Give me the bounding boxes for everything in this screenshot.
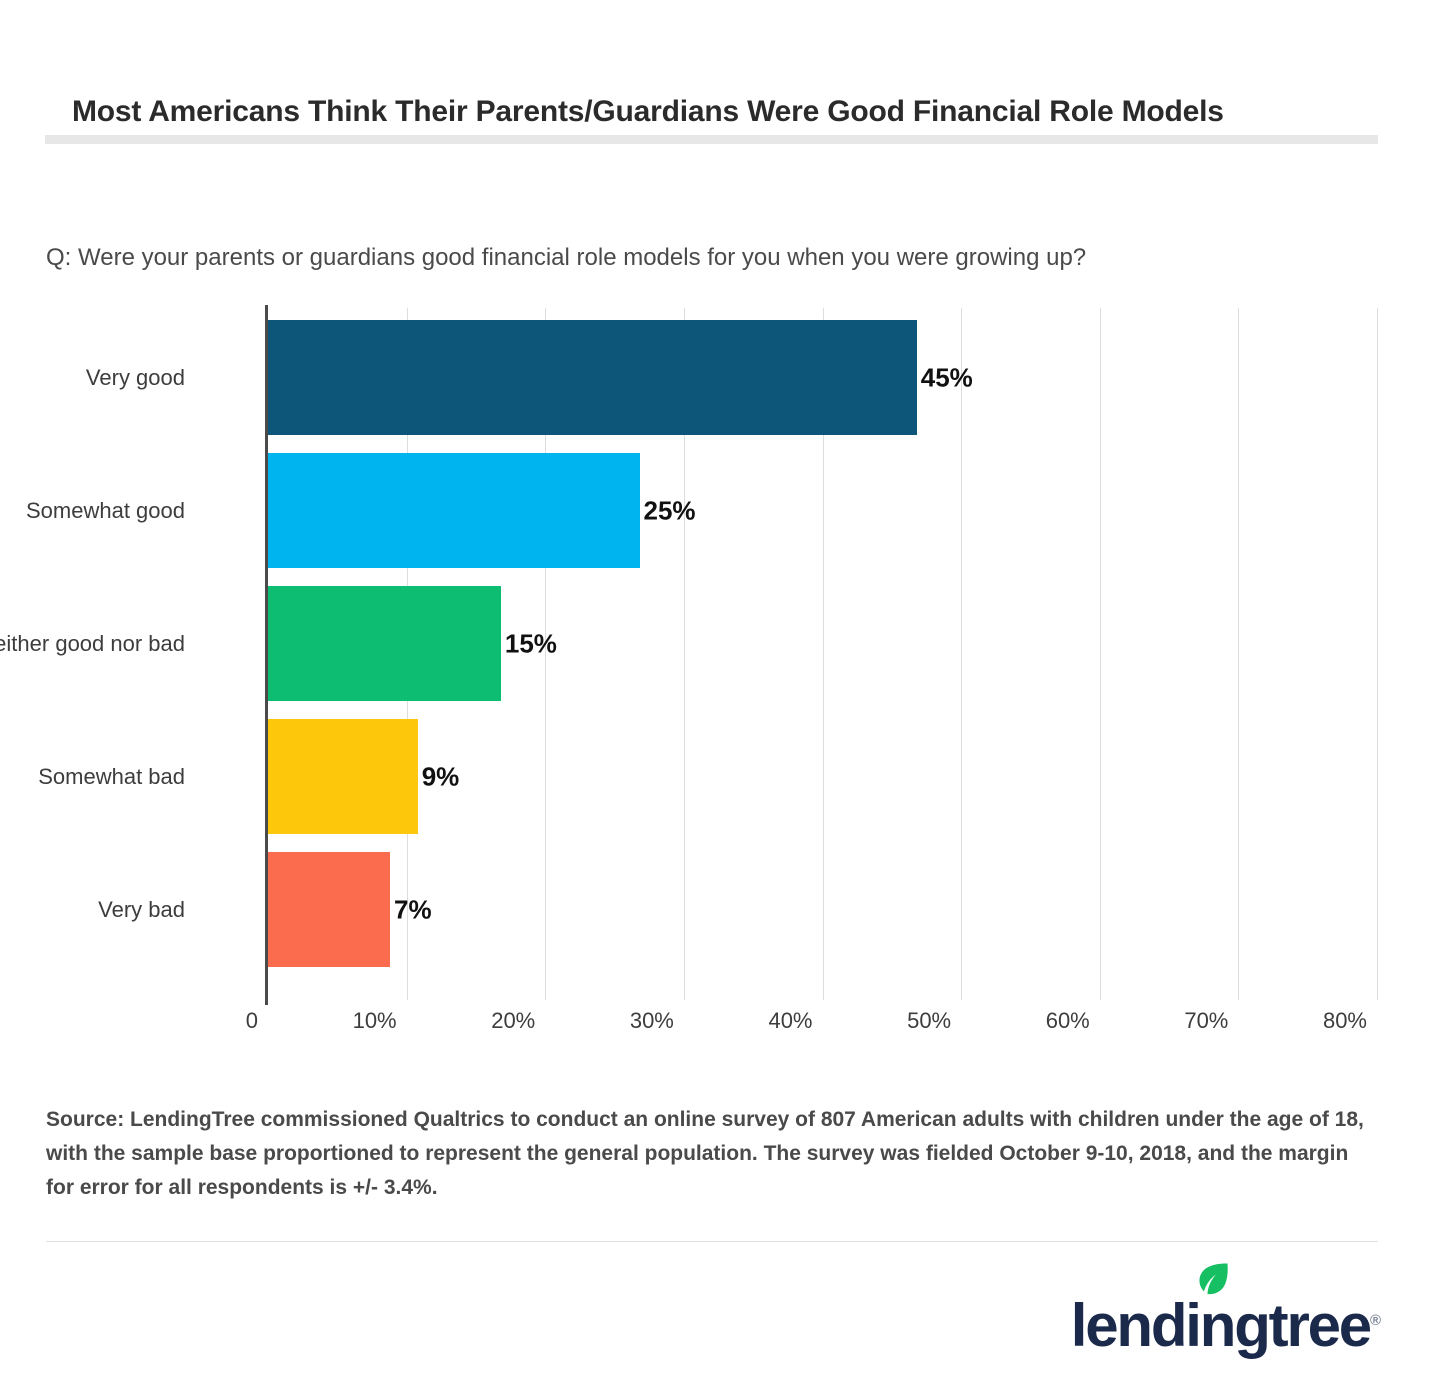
- bar: [268, 453, 640, 568]
- infographic-page: Most Americans Think Their Parents/Guard…: [0, 0, 1443, 1390]
- category-label: Neither good nor bad: [0, 631, 185, 657]
- x-axis-tick-label: 70%: [1118, 1008, 1228, 1034]
- bar-value-label: 9%: [422, 761, 460, 792]
- x-axis-tick-label: 50%: [841, 1008, 951, 1034]
- bar: [268, 586, 501, 701]
- source-note: Source: LendingTree commissioned Qualtri…: [46, 1103, 1366, 1205]
- x-axis-tick-label: 30%: [564, 1008, 674, 1034]
- bar-value-label: 15%: [505, 628, 557, 659]
- footer-divider: [46, 1241, 1378, 1242]
- x-axis-tick-label: 0: [148, 1008, 258, 1034]
- page-title: Most Americans Think Their Parents/Guard…: [72, 94, 1392, 130]
- category-label: Somewhat bad: [0, 764, 185, 790]
- logo-text: lendingtree: [1071, 1292, 1370, 1359]
- registered-mark: ®: [1370, 1312, 1381, 1329]
- bar-value-label: 25%: [644, 495, 696, 526]
- category-label: Very good: [0, 365, 185, 391]
- bar-row: 25%Somewhat good: [268, 453, 1377, 568]
- category-label: Somewhat good: [0, 498, 185, 524]
- header-divider: [45, 135, 1378, 144]
- bar: [268, 320, 917, 435]
- bar-row: 45%Very good: [268, 320, 1377, 435]
- lendingtree-logo: lendingtree®: [1071, 1282, 1381, 1356]
- leaf-icon: [1194, 1262, 1230, 1302]
- bar-chart: 45%Very good25%Somewhat good15%Neither g…: [0, 300, 1443, 1040]
- bar-row: 7%Very bad: [268, 852, 1377, 967]
- bar-row: 15%Neither good nor bad: [268, 586, 1377, 701]
- bar-value-label: 45%: [921, 362, 973, 393]
- plot-area: 45%Very good25%Somewhat good15%Neither g…: [268, 308, 1377, 1000]
- bar-value-label: 7%: [394, 894, 432, 925]
- gridline: [1377, 308, 1378, 1000]
- x-axis-tick-label: 60%: [980, 1008, 1090, 1034]
- x-axis-tick-label: 40%: [703, 1008, 813, 1034]
- survey-question: Q: Were your parents or guardians good f…: [46, 242, 1386, 274]
- x-axis-tick-label: 10%: [287, 1008, 397, 1034]
- logo-wordmark-text: lendingtree®: [1071, 1296, 1381, 1356]
- x-axis-tick-label: 20%: [425, 1008, 535, 1034]
- x-axis-tick-label: 80%: [1257, 1008, 1367, 1034]
- bar: [268, 719, 418, 834]
- category-label: Very bad: [0, 897, 185, 923]
- bar-row: 9%Somewhat bad: [268, 719, 1377, 834]
- bar: [268, 852, 390, 967]
